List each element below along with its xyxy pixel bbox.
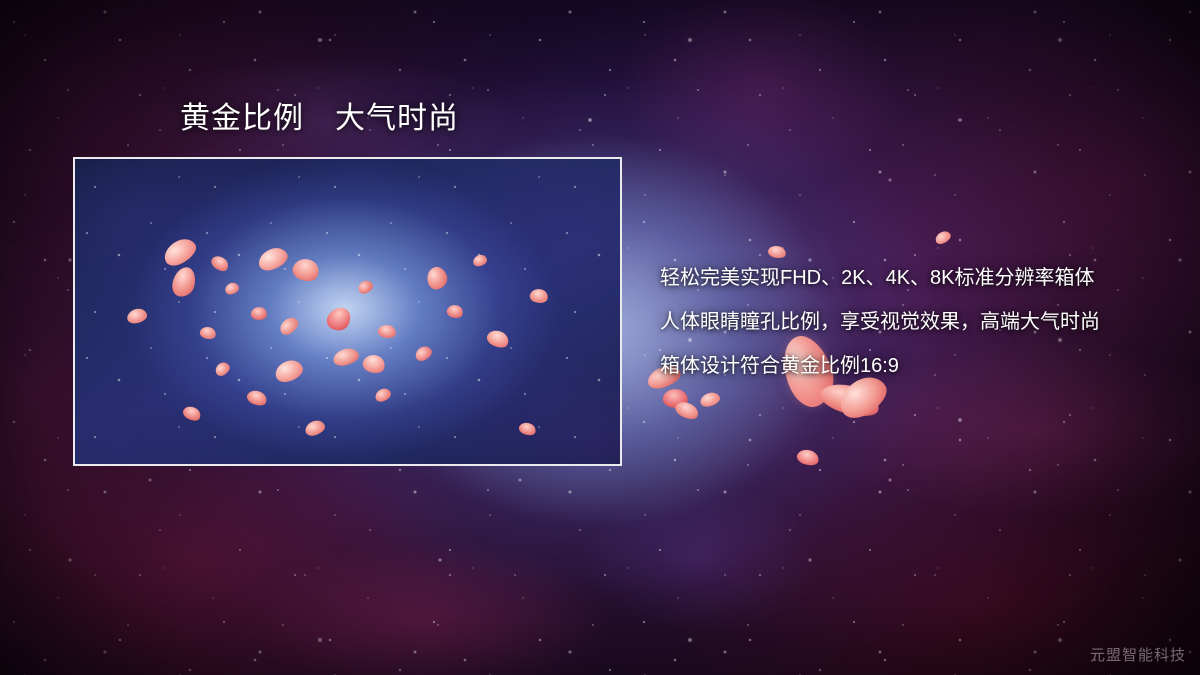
page-title: 黄金比例 大气时尚	[180, 102, 459, 136]
body-line-2: 人体眼睛瞳孔比例，享受视觉效果，高端大气时尚	[660, 300, 1160, 344]
framed-photo	[73, 157, 622, 466]
body-line-3: 箱体设计符合黄金比例16:9	[660, 344, 1160, 388]
slide-canvas: 黄金比例 大气时尚 轻松完美实现FHD、2K、4K、8K标准分辨率箱体 人体眼睛…	[0, 0, 1200, 675]
body-line-1: 轻松完美实现FHD、2K、4K、8K标准分辨率箱体	[660, 256, 1160, 300]
watermark: 元盟智能科技	[1090, 644, 1186, 665]
body-text-block: 轻松完美实现FHD、2K、4K、8K标准分辨率箱体 人体眼睛瞳孔比例，享受视觉效…	[660, 256, 1160, 388]
